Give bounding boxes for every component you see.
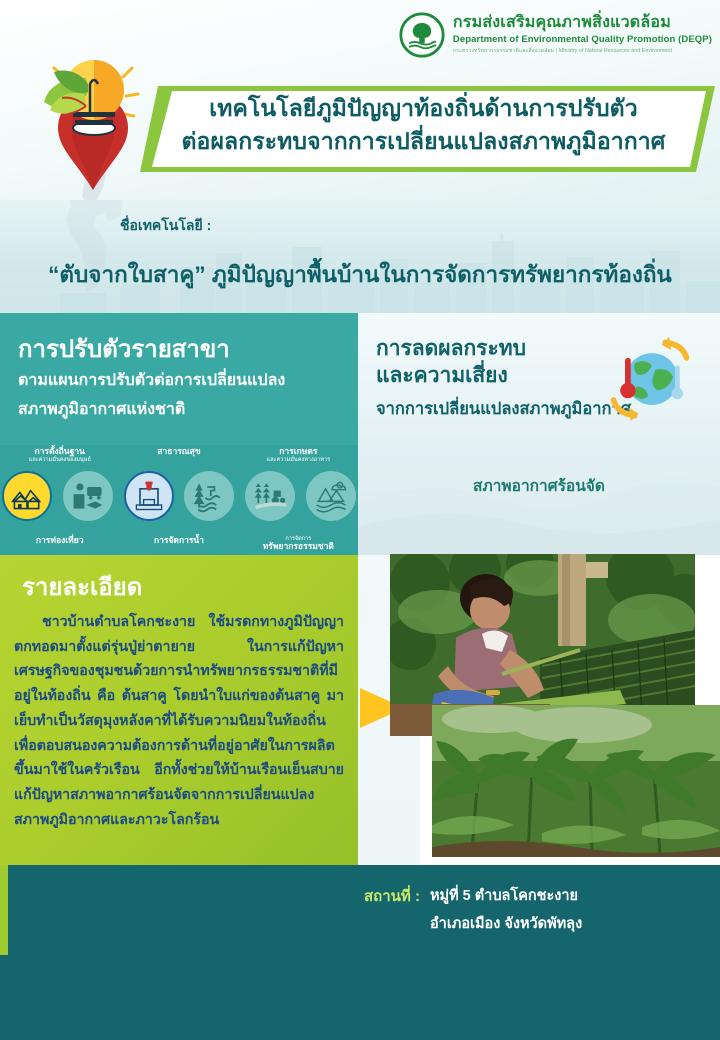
water-management-icon[interactable]: [184, 471, 234, 521]
location-footer-section: สถานที่ : หมู่ที่ 5 ตำบลโคกชะงาย อำเภอเม…: [0, 865, 720, 1040]
settlement-houses-icon[interactable]: [2, 471, 52, 521]
agriculture-tractor-icon[interactable]: [245, 471, 295, 521]
sector-label-agriculture-line1: การเกษตร: [240, 447, 357, 457]
adaptation-sectors-strip: การตั้งถิ่นฐาน และความมั่นคงของมนุษย์ สา…: [0, 445, 358, 555]
hazard-label: สภาพอากาศร้อนจัด: [358, 473, 720, 498]
poster-root: กรมส่งเสริมคุณภาพสิ่งแวดล้อม Department …: [0, 0, 720, 1040]
ministry-name: กระทรวงทรัพยากรธรรมชาติและสิ่งแวดล้อม | …: [453, 47, 712, 55]
mitigation-panel: การลดผลกระทบ และความเสี่ยง จากการเปลี่ยน…: [358, 313, 720, 555]
technology-name: “ตับจากใบสาคู” ภูมิปัญญาพื้นบ้านในการจัด…: [0, 256, 720, 292]
sector-label-agriculture: การเกษตร และความมั่นคงทางอาหาร: [239, 447, 358, 463]
technology-name-section: ชื่อเทคโนโลยี : “ตับจากใบสาคู” ภูมิปัญญา…: [0, 200, 720, 313]
sector-label-tourism: การท่องเที่ยว: [0, 536, 119, 552]
sector-label-health-line1: สาธารณสุข: [120, 447, 237, 457]
sector-label-tourism-text: การท่องเที่ยว: [0, 536, 119, 546]
deqp-seal-icon: [399, 12, 445, 58]
location-line-1: หมู่ที่ 5 ตำบลโคกชะงาย: [430, 883, 582, 911]
main-title: เทคโนโลยีภูมิปัญญาท้องถิ่นด้านการปรับตัว…: [162, 92, 685, 159]
details-title: รายละเอียด: [22, 567, 142, 606]
globe-thermometer-icon: [602, 331, 698, 427]
main-title-line-2: ต่อผลกระทบจากการเปลี่ยนแปลงสภาพภูมิอากาศ: [162, 125, 685, 158]
public-health-hospital-icon[interactable]: [124, 471, 174, 521]
location-block: สถานที่ : หมู่ที่ 5 ตำบลโคกชะงาย อำเภอเม…: [364, 883, 582, 938]
adaptation-heading-group: การปรับตัวรายสาขา ตามแผนการปรับตัวต่อการ…: [0, 313, 358, 423]
details-body-text: ชาวบ้านตำบลโคกชะงาย ใช้มรดกทางภูมิปัญญาต…: [14, 610, 344, 832]
location-label: สถานที่ :: [364, 883, 420, 908]
adaptation-subtitle-1: ตามแผนการปรับตัวต่อการเปลี่ยนแปลง: [18, 369, 342, 394]
sector-label-settlement: การตั้งถิ่นฐาน และความมั่นคงของมนุษย์: [0, 447, 119, 463]
sector-label-natural-resources: การจัดการ ทรัพยากรธรรมชาติ: [239, 536, 358, 552]
header-section: กรมส่งเสริมคุณภาพสิ่งแวดล้อม Department …: [0, 0, 720, 200]
sector-labels-bottom: การท่องเที่ยว การจัดการน้ำ การจัดการ ทรั…: [0, 536, 358, 552]
sector-label-health: สาธารณสุข: [119, 447, 238, 463]
mitigation-subtitle: จากการเปลี่ยนแปลงสภาพภูมิอากาศ: [376, 396, 631, 422]
details-panel: รายละเอียด ชาวบ้านตำบลโคกชะงาย ใช้มรดกทา…: [0, 555, 358, 865]
mitigation-heading-group: การลดผลกระทบ และความเสี่ยง จากการเปลี่ยน…: [376, 335, 631, 422]
sector-icon-row: [2, 471, 356, 521]
sector-label-water-text: การจัดการน้ำ: [119, 536, 238, 546]
adaptation-subtitle-2: สภาพภูมิอากาศแห่งชาติ: [18, 398, 342, 423]
mitigation-title-line-2: และความเสี่ยง: [376, 362, 631, 389]
location-value-group: หมู่ที่ 5 ตำบลโคกชะงาย อำเภอเมือง จังหวั…: [430, 883, 582, 938]
tourism-transport-icon[interactable]: [63, 471, 113, 521]
deqp-logo: กรมส่งเสริมคุณภาพสิ่งแวดล้อม Department …: [399, 12, 712, 58]
deqp-logo-text: กรมส่งเสริมคุณภาพสิ่งแวดล้อม Department …: [453, 12, 712, 55]
sector-label-settlement-line2: และความมั่นคงของมนุษย์: [1, 457, 118, 463]
sector-labels-top: การตั้งถิ่นฐาน และความมั่นคงของมนุษย์ สา…: [0, 447, 358, 463]
adaptation-title: การปรับตัวรายสาขา: [18, 335, 342, 365]
mitigation-title-line-1: การลดผลกระทบ: [376, 335, 631, 362]
adaptation-panel: การปรับตัวรายสาขา ตามแผนการปรับตัวต่อการ…: [0, 313, 358, 555]
sector-label-settlement-line1: การตั้งถิ่นฐาน: [1, 447, 118, 457]
natural-resources-icon[interactable]: [306, 471, 356, 521]
org-name-english: Department of Environmental Quality Prom…: [453, 34, 712, 45]
location-line-2: อำเภอเมือง จังหวัดพัทลุง: [430, 911, 582, 939]
main-title-line-1: เทคโนโลยีภูมิปัญญาท้องถิ่นด้านการปรับตัว: [162, 92, 685, 125]
sector-label-natres-line2: ทรัพยากรธรรมชาติ: [239, 542, 358, 552]
green-accent-bar: [0, 865, 8, 955]
sector-label-agriculture-line2: และความมั่นคงทางอาหาร: [240, 457, 357, 463]
technology-label: ชื่อเทคโนโลยี :: [120, 215, 211, 237]
org-name-thai: กรมส่งเสริมคุณภาพสิ่งแวดล้อม: [453, 14, 712, 32]
lightbulb-location-pin-icon: [28, 50, 158, 200]
sector-label-water: การจัดการน้ำ: [119, 536, 238, 552]
main-title-banner: เทคโนโลยีภูมิปัญญาท้องถิ่นด้านการปรับตัว…: [140, 86, 715, 172]
location-left-fill: [8, 865, 358, 955]
sago-palm-grove-photo: [432, 705, 720, 857]
